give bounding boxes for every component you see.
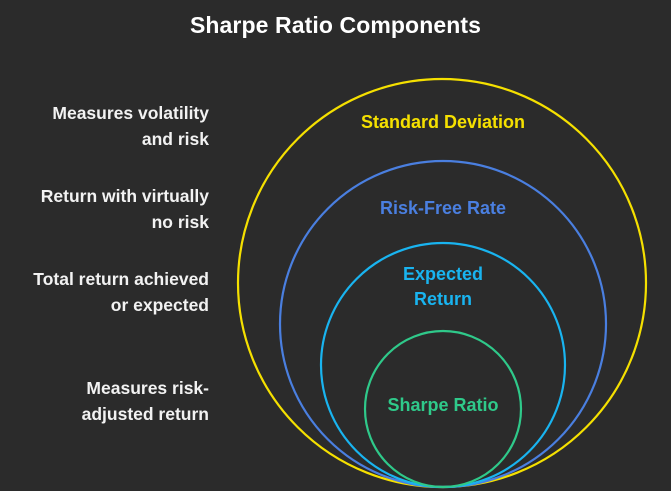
ring-label-sharpe-ratio: Sharpe Ratio xyxy=(293,393,593,418)
annotation-risk-free-rate: Return with virtually no risk xyxy=(41,183,209,235)
ring-label-risk-free-rate: Risk-Free Rate xyxy=(293,196,593,221)
ring-label-expected-return: Expected Return xyxy=(293,262,593,312)
annotation-expected-return: Total return achieved or expected xyxy=(33,266,209,318)
annotation-standard-deviation: Measures volatility and risk xyxy=(52,100,209,152)
ring-label-standard-deviation: Standard Deviation xyxy=(293,110,593,135)
diagram-canvas: Sharpe Ratio Components Measures volatil… xyxy=(0,0,671,491)
annotation-sharpe-ratio: Measures risk- adjusted return xyxy=(82,375,209,427)
